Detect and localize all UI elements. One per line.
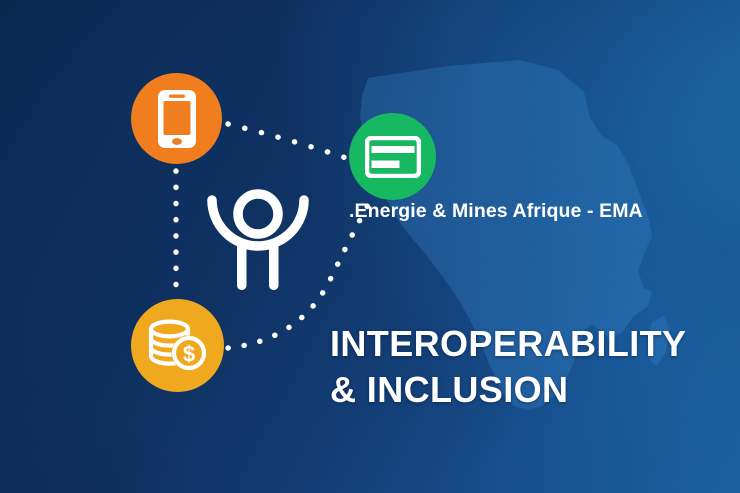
coins-dollar-icon: $: [147, 319, 209, 373]
connector-lines: [0, 0, 740, 493]
person-raised-arms-icon: [206, 186, 310, 292]
smartphone-icon: [154, 88, 200, 150]
credit-card-icon: [365, 136, 421, 178]
node-money[interactable]: $: [131, 299, 224, 392]
svg-text:$: $: [182, 341, 194, 366]
node-mobile[interactable]: [131, 73, 222, 164]
poster-canvas: $ .Energie & Mines Afrique - EMA INTEROP…: [0, 0, 740, 493]
node-card[interactable]: [349, 113, 436, 200]
headline-line-2: & INCLUSION: [330, 367, 720, 413]
brand-name: .Energie & Mines Afrique - EMA: [349, 200, 689, 223]
link-mobile-card: [228, 124, 352, 160]
headline-line-1: INTEROPERABILITY: [330, 323, 686, 364]
page-title: INTEROPERABILITY & INCLUSION: [330, 321, 720, 413]
